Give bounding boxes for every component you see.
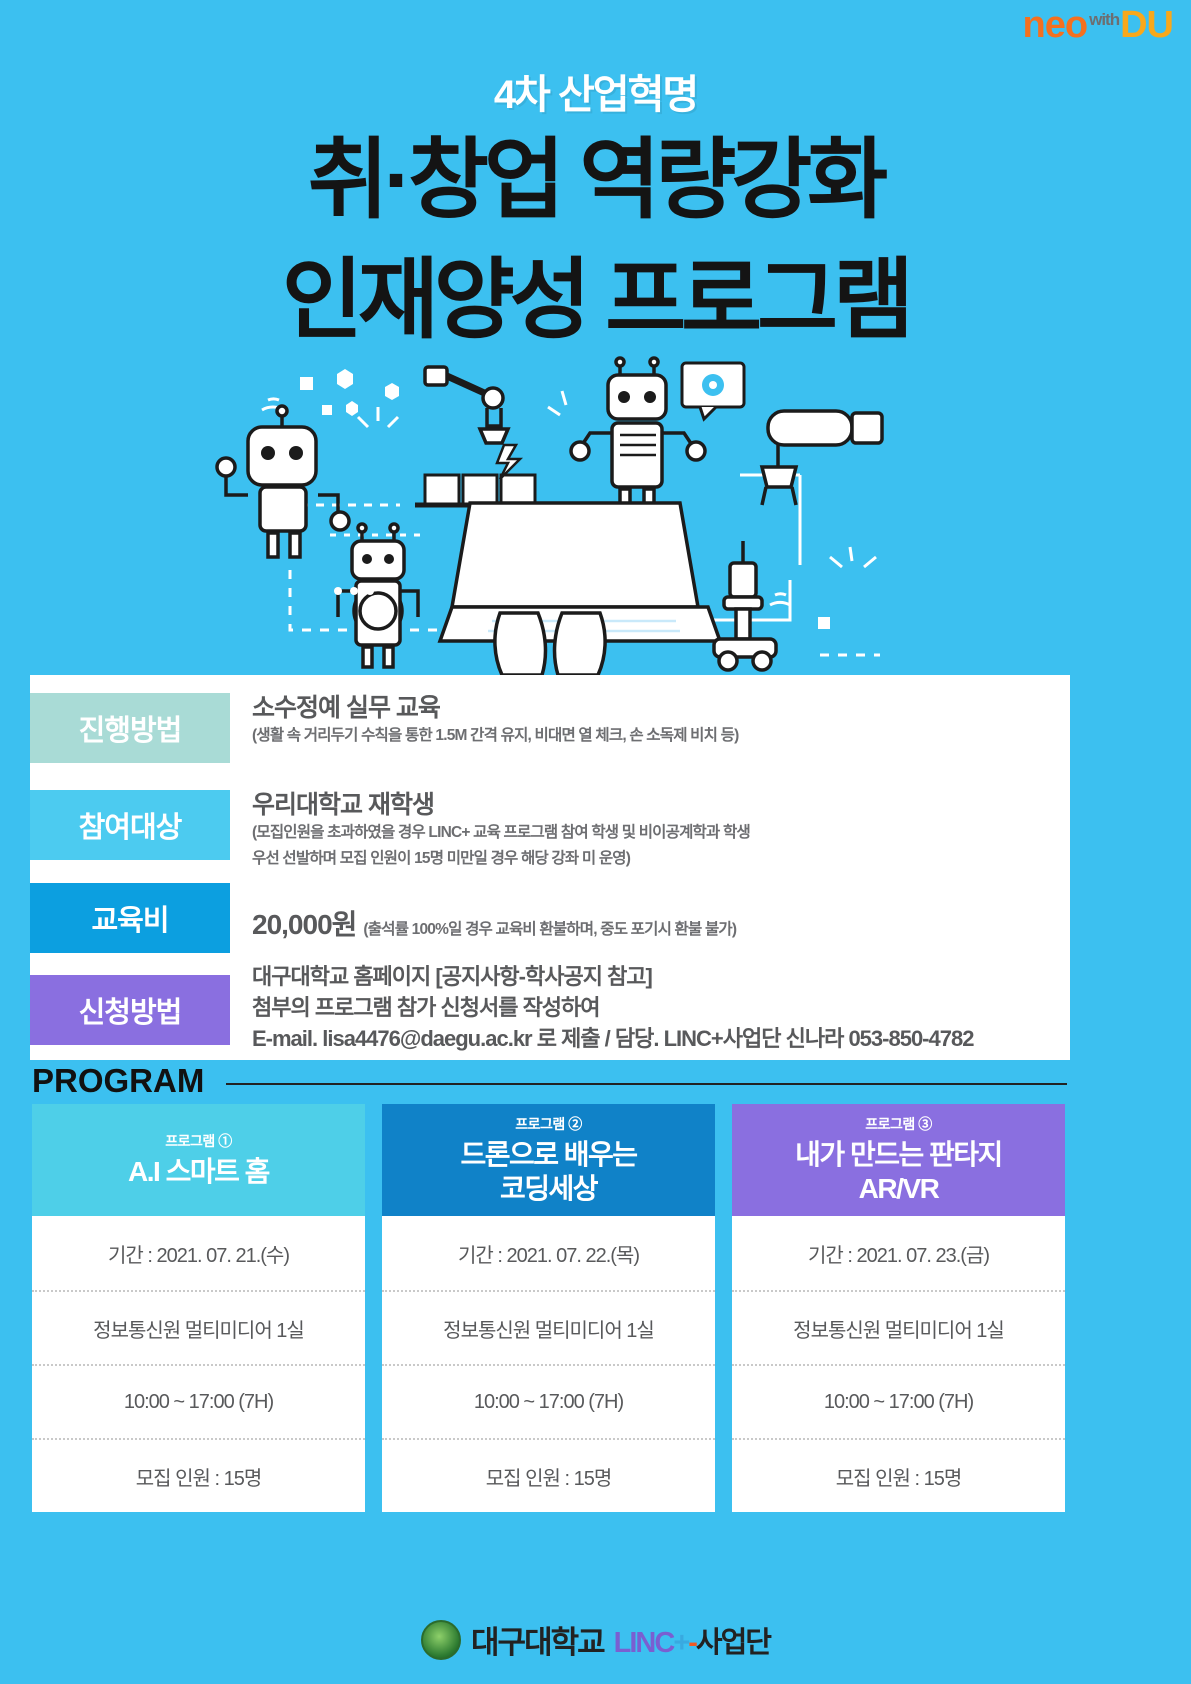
footer-linc-plus: + — [673, 1627, 688, 1659]
program-card-3-time: 10:00 ~ 17:00 (7H) — [732, 1364, 1065, 1438]
program-card-2-period: 기간 : 2021. 07. 22.(목) — [382, 1216, 715, 1290]
program-card-2-time: 10:00 ~ 17:00 (7H) — [382, 1364, 715, 1438]
fee-note: (출석률 100%일 경우 교육비 환불하며, 중도 포기시 환불 불가) — [363, 917, 736, 939]
info-row-fee: 교육비 20,000원 (출석률 100%일 경우 교육비 환불하며, 중도 포… — [30, 883, 736, 953]
program-card-2-capacity: 모집 인원 : 15명 — [382, 1438, 715, 1512]
info-body-method: 소수정예 실무 교육 (생활 속 거리두기 수칙을 통한 1.5M 간격 유지,… — [230, 693, 738, 763]
program-card-1-name: A.I 스마트 홈 — [128, 1155, 269, 1189]
program-card-1[interactable]: 프로그램 ① A.I 스마트 홈 기간 : 2021. 07. 21.(수) 정… — [32, 1104, 365, 1512]
program-card-3-header: 프로그램 ③ 내가 만드는 판타지 AR/VR — [732, 1104, 1065, 1216]
program-card-3-name: 내가 만드는 판타지 AR/VR — [795, 1138, 1002, 1206]
logo-with-text: with — [1089, 11, 1119, 28]
program-card-2[interactable]: 프로그램 ② 드론으로 배우는 코딩세상 기간 : 2021. 07. 22.(… — [382, 1104, 715, 1512]
info-sub-target-2: 우선 선발하며 모집 인원이 15명 미만일 경우 해당 강좌 미 운영) — [252, 846, 750, 872]
info-sub-target-1: (모집인원을 초과하였을 경우 LINC+ 교육 프로그램 참여 학생 및 비이… — [252, 820, 750, 846]
program-card-3[interactable]: 프로그램 ③ 내가 만드는 판타지 AR/VR 기간 : 2021. 07. 2… — [732, 1104, 1065, 1512]
program-card-1-body: 기간 : 2021. 07. 21.(수) 정보통신원 멀티미디어 1실 10:… — [32, 1216, 365, 1512]
info-row-method: 진행방법 소수정예 실무 교육 (생활 속 거리두기 수칙을 통한 1.5M 간… — [30, 693, 738, 763]
fee-amount: 20,000원 — [252, 903, 356, 943]
info-body-fee: 20,000원 (출석률 100%일 경우 교육비 환불하며, 중도 포기시 환… — [230, 883, 736, 953]
robotics-illustration — [0, 355, 1191, 675]
program-card-1-place: 정보통신원 멀티미디어 1실 — [32, 1290, 365, 1364]
title-line-1: 취·창업 역량강화 — [0, 124, 1191, 236]
program-card-3-capacity: 모집 인원 : 15명 — [732, 1438, 1065, 1512]
info-head-target: 우리대학교 재학생 — [252, 790, 750, 820]
info-head-method: 소수정예 실무 교육 — [252, 693, 738, 723]
info-body-target: 우리대학교 재학생 (모집인원을 초과하였을 경우 LINC+ 교육 프로그램 … — [230, 790, 750, 872]
program-card-1-capacity: 모집 인원 : 15명 — [32, 1438, 365, 1512]
program-card-1-time: 10:00 ~ 17:00 (7H) — [32, 1364, 365, 1438]
info-label-fee: 교육비 — [30, 883, 230, 953]
program-section-title: PROGRAM — [32, 1062, 204, 1100]
info-panel: 진행방법 소수정예 실무 교육 (생활 속 거리두기 수칙을 통한 1.5M 간… — [30, 675, 1070, 1060]
title-line-2: 인재양성 프로그램 — [0, 250, 1191, 350]
program-card-3-body: 기간 : 2021. 07. 23.(금) 정보통신원 멀티미디어 1실 10:… — [732, 1216, 1065, 1512]
program-card-3-place: 정보통신원 멀티미디어 1실 — [732, 1290, 1065, 1364]
program-section-header: PROGRAM — [32, 1062, 1067, 1100]
program-card-3-kicker: 프로그램 ③ — [865, 1114, 931, 1134]
footer-university-name: 대구대학교 — [471, 1617, 604, 1662]
poster-title-block: 4차 산업혁명 취·창업 역량강화 인재양성 프로그램 — [0, 62, 1191, 350]
program-card-1-kicker: 프로그램 ① — [165, 1131, 231, 1151]
info-label-target: 참여대상 — [30, 790, 230, 860]
program-card-2-kicker: 프로그램 ② — [515, 1114, 581, 1134]
info-label-method: 진행방법 — [30, 693, 230, 763]
program-card-1-period: 기간 : 2021. 07. 21.(수) — [32, 1216, 365, 1290]
footer-linc-logo: LINC+-사업단 — [614, 1619, 770, 1661]
neo-with-du-logo: neo with DU — [1023, 8, 1173, 42]
footer-linc-org: 사업단 — [696, 1627, 770, 1659]
program-card-2-body: 기간 : 2021. 07. 22.(목) 정보통신원 멀티미디어 1실 10:… — [382, 1216, 715, 1512]
program-card-2-place: 정보통신원 멀티미디어 1실 — [382, 1290, 715, 1364]
title-kicker: 4차 산업혁명 — [0, 62, 1191, 120]
apply-line-1: 대구대학교 홈페이지 [공지사항-학사공지 참고] — [252, 961, 973, 992]
footer-logos: 대구대학교 LINC+-사업단 — [0, 1617, 1191, 1662]
program-card-2-name: 드론으로 배우는 코딩세상 — [460, 1138, 636, 1206]
info-body-apply: 대구대학교 홈페이지 [공지사항-학사공지 참고] 첨부의 프로그램 참가 신청… — [230, 961, 973, 1054]
logo-neo-text: neo — [1023, 8, 1088, 42]
program-divider — [226, 1083, 1067, 1085]
info-row-target: 참여대상 우리대학교 재학생 (모집인원을 초과하였을 경우 LINC+ 교육 … — [30, 790, 750, 872]
program-card-2-header: 프로그램 ② 드론으로 배우는 코딩세상 — [382, 1104, 715, 1216]
program-card-1-header: 프로그램 ① A.I 스마트 홈 — [32, 1104, 365, 1216]
apply-line-3: E-mail. lisa4476@daegu.ac.kr 로 제출 / 담당. … — [252, 1023, 973, 1054]
apply-line-2: 첨부의 프로그램 참가 신청서를 작성하여 — [252, 992, 973, 1023]
footer-linc-dash: - — [688, 1627, 696, 1659]
program-cards: 프로그램 ① A.I 스마트 홈 기간 : 2021. 07. 21.(수) 정… — [32, 1104, 1067, 1512]
logo-du-text: DU — [1120, 8, 1173, 42]
program-card-3-period: 기간 : 2021. 07. 23.(금) — [732, 1216, 1065, 1290]
info-label-apply: 신청방법 — [30, 975, 230, 1045]
info-sub-method-1: (생활 속 거리두기 수칙을 통한 1.5M 간격 유지, 비대면 열 체크, … — [252, 723, 738, 749]
info-row-apply: 신청방법 대구대학교 홈페이지 [공지사항-학사공지 참고] 첨부의 프로그램 … — [30, 975, 973, 1054]
university-seal-icon — [421, 1620, 461, 1660]
footer-linc-text: LINC — [614, 1627, 674, 1659]
